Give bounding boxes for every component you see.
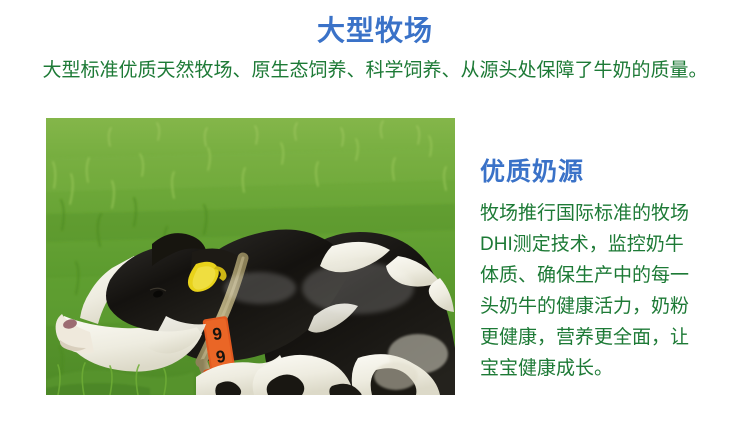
body-line: 宝宝健康成长。 bbox=[480, 353, 728, 384]
page-subtitle: 大型标准优质天然牧场、原生态饲养、科学饲养、从源头处保障了牛奶的质量。 bbox=[0, 58, 750, 84]
body-line: DHI测定技术，监控奶牛 bbox=[480, 229, 728, 260]
body-line: 更健康，营养更全面，让 bbox=[480, 322, 728, 353]
pasture-cow-photo: 9 9 9 9 bbox=[46, 118, 455, 395]
body-line: 牧场推行国际标准的牧场 bbox=[480, 198, 728, 229]
promo-banner: 大型牧场 大型标准优质天然牧场、原生态饲养、科学饲养、从源头处保障了牛奶的质量。 bbox=[0, 0, 750, 434]
body-line: 头奶牛的健康活力，奶粉 bbox=[480, 291, 728, 322]
cow-illustration: 9 9 9 9 bbox=[46, 118, 455, 395]
page-title: 大型牧场 bbox=[0, 14, 750, 48]
section-body-text: 牧场推行国际标准的牧场 DHI测定技术，监控奶牛 体质、确保生产中的每一 头奶牛… bbox=[480, 198, 728, 384]
body-line: 体质、确保生产中的每一 bbox=[480, 260, 728, 291]
section-title: 优质奶源 bbox=[480, 157, 584, 187]
